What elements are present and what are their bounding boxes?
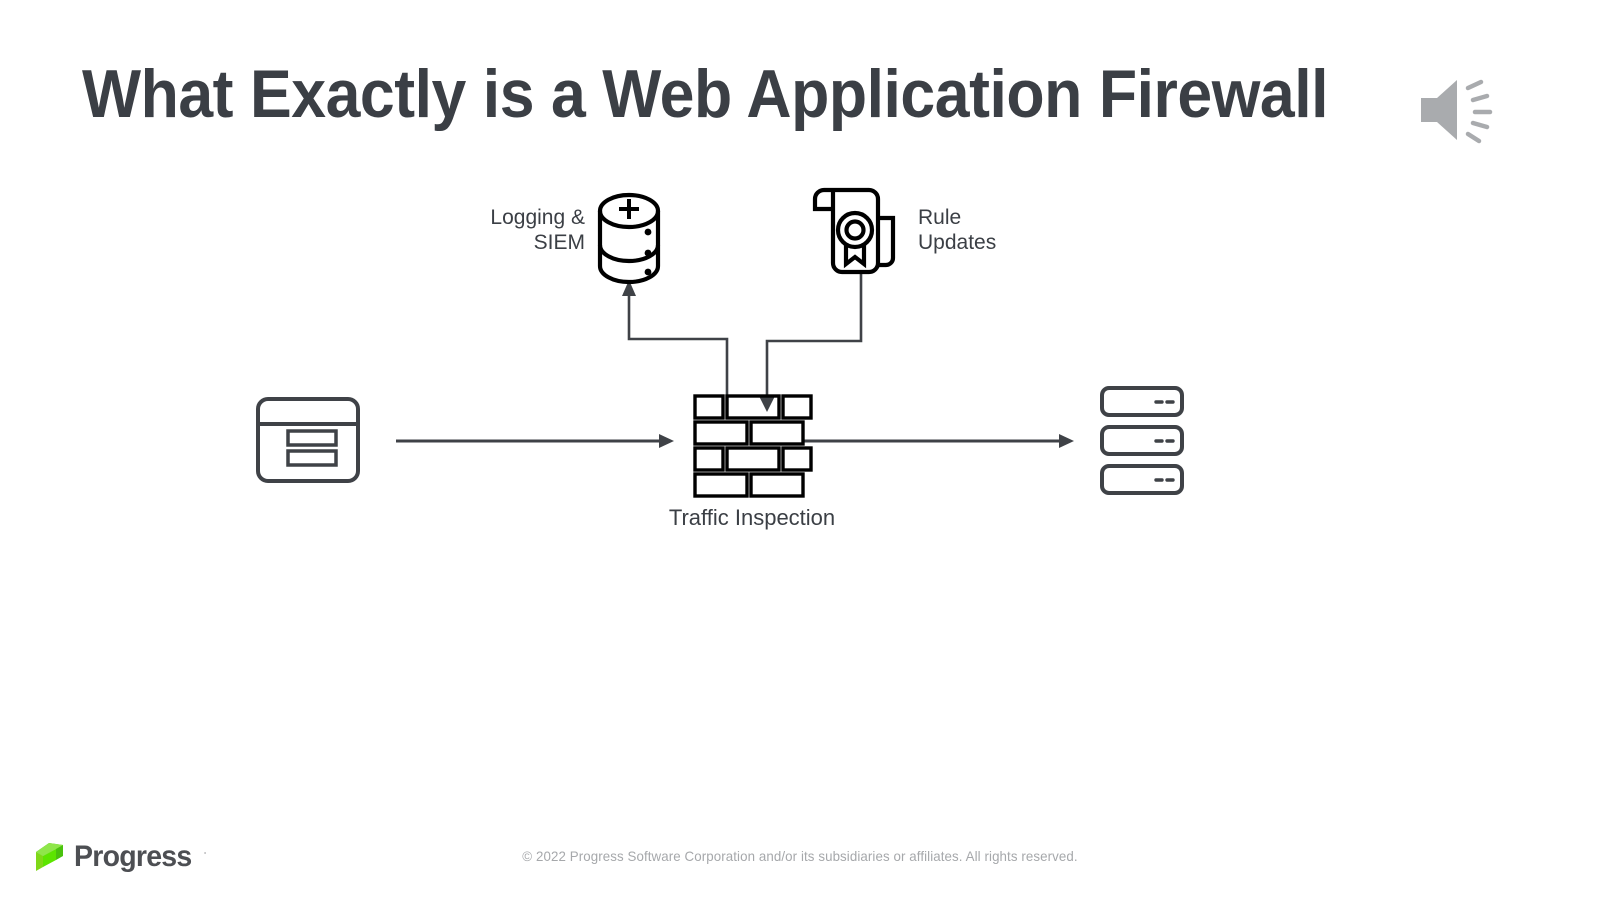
progress-mark-icon [32,840,68,874]
label-logging-siem: Logging & SIEM [420,206,585,256]
connector-rules-to-firewall [759,272,861,412]
arrow-client-to-firewall [396,434,674,448]
progress-logo: Progress ˙ [32,838,208,876]
arrow-firewall-to-servers [802,434,1074,448]
footer-copyright-text: © 2022 Progress Software Corporation and… [325,848,1275,864]
progress-trademark-mark: ˙ [204,850,208,864]
connector-firewall-to-logging [622,280,727,400]
label-rule-updates: Rule Updates [918,206,1098,256]
browser-window-icon [258,399,358,481]
certificate-seal-icon [815,190,893,272]
database-status-dots-icon [645,229,652,276]
brick-wall-icon [695,396,811,496]
waf-architecture-diagram: Logging & SIEM Rule Updates Traffic Insp… [0,0,1600,900]
progress-wordmark: Progress [74,840,191,874]
database-plus-icon [619,199,639,219]
label-traffic-inspection: Traffic Inspection [612,505,892,531]
slide-canvas: What Exactly is a Web Application Firewa… [0,0,1600,900]
